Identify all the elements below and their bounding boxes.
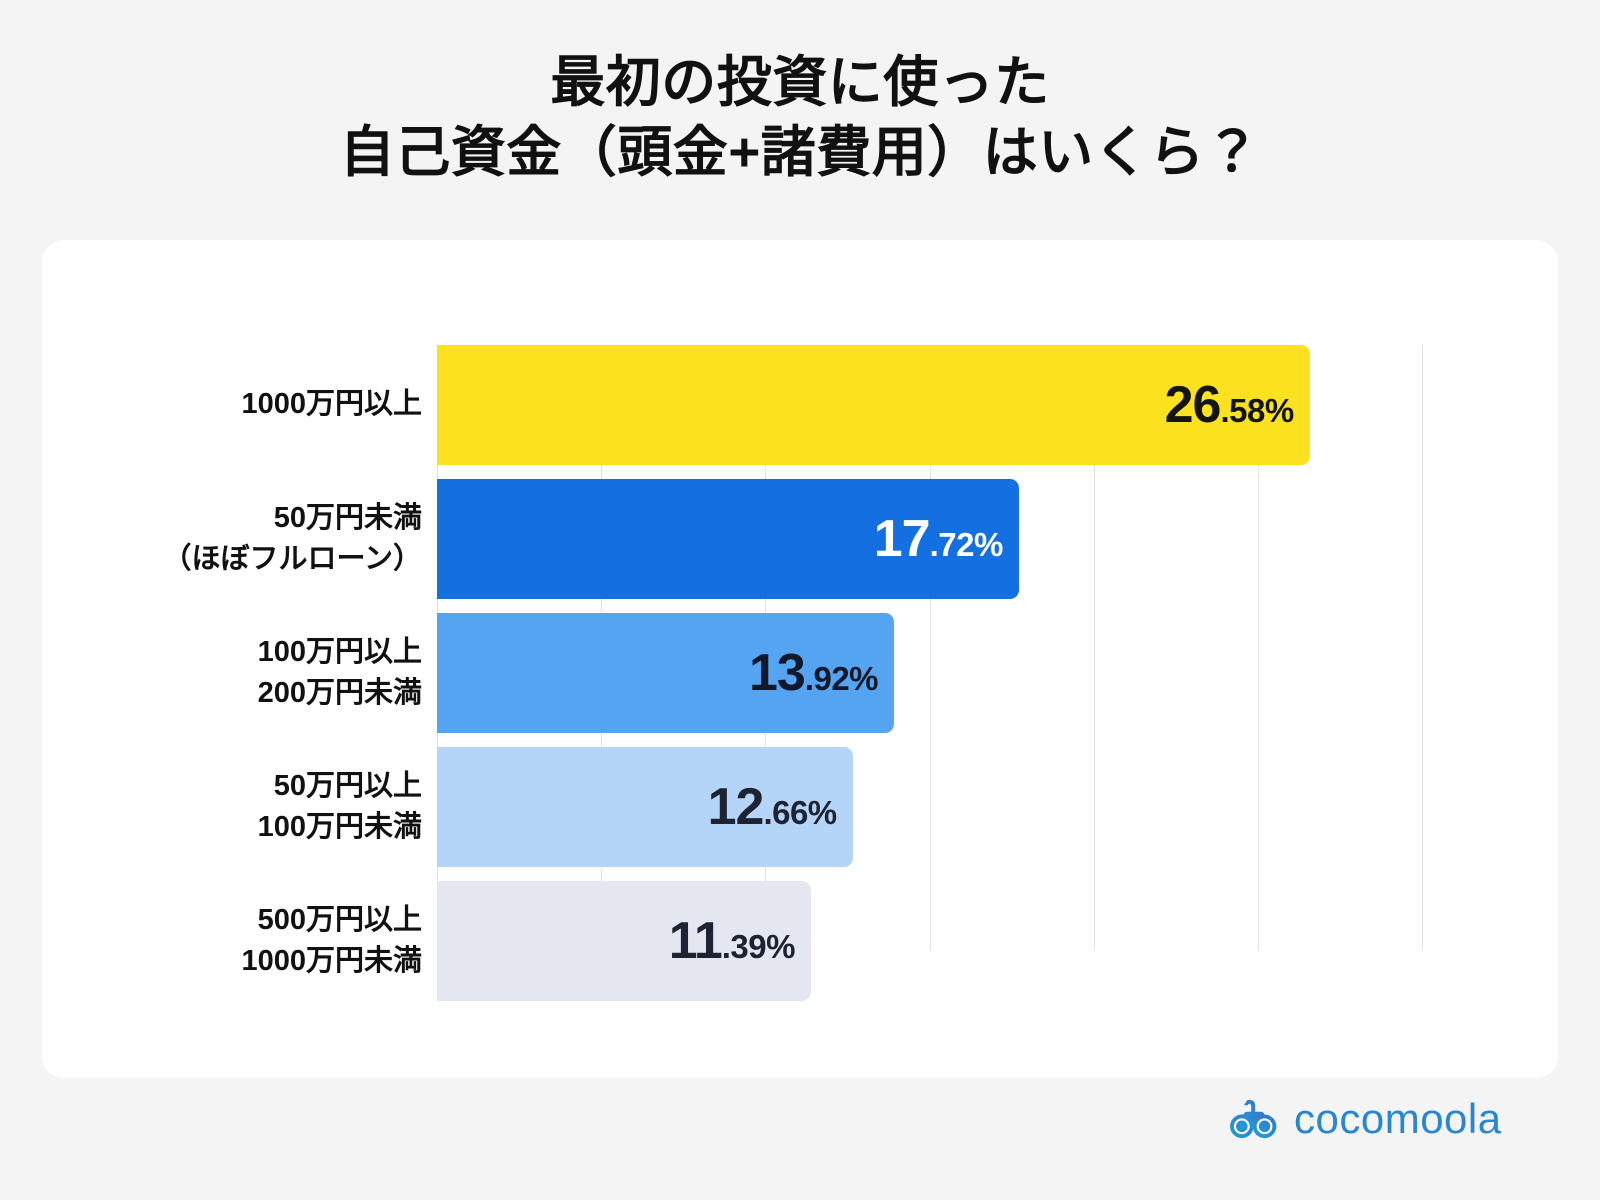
category-label-5: 500万円以上1000万円未満: [102, 881, 422, 1001]
bar-5[interactable]: 11.39%: [437, 881, 811, 1001]
page-title: 最初の投資に使った 自己資金（頭金+諸費用）はいくら？: [0, 48, 1600, 188]
bar-value-label: 12.66%: [708, 781, 837, 833]
category-label-line: 1000万円未満: [241, 941, 422, 982]
bar-value-decimal: .72%: [930, 528, 1003, 561]
category-label-2: 50万円未満（ほぼフルローン）: [102, 479, 422, 599]
category-label-line: 1000万円以上: [241, 384, 422, 425]
chart-card: 1000万円以上50万円未満（ほぼフルローン）100万円以上200万円未満50万…: [42, 240, 1558, 1078]
bar-value-label: 11.39%: [669, 915, 795, 967]
bar-value-integer: 26: [1165, 379, 1221, 431]
bar-value-integer: 13: [749, 647, 805, 699]
category-label-line: 50万円未満: [274, 498, 422, 539]
category-label-4: 50万円以上100万円未満: [102, 747, 422, 867]
brand-name: cocomoola: [1294, 1098, 1502, 1140]
bar-value-label: 17.72%: [874, 513, 1003, 565]
bar-2[interactable]: 17.72%: [437, 479, 1019, 599]
bar-value-integer: 12: [708, 781, 764, 833]
bar-value-integer: 11: [669, 915, 722, 967]
bar-row: 11.39%: [437, 881, 1422, 1001]
category-label-line: （ほぼフルローン）: [162, 539, 422, 580]
bar-value-decimal: .58%: [1220, 394, 1293, 427]
bar-value-label: 13.92%: [749, 647, 878, 699]
bar-1[interactable]: 26.58%: [437, 345, 1310, 465]
bar-value-decimal: .66%: [763, 796, 836, 829]
binoculars-icon: [1228, 1099, 1280, 1139]
category-label-line: 500万円以上: [258, 900, 422, 941]
category-label-line: 100万円以上: [258, 632, 422, 673]
bar-3[interactable]: 13.92%: [437, 613, 894, 733]
chart-plot-area: 26.58%17.72%13.92%12.66%11.39%: [437, 345, 1422, 950]
bar-4[interactable]: 12.66%: [437, 747, 853, 867]
category-label-line: 200万円未満: [258, 673, 422, 714]
bar-value-decimal: .39%: [722, 930, 795, 963]
bar-value-label: 26.58%: [1165, 379, 1294, 431]
category-axis-labels: 1000万円以上50万円未満（ほぼフルローン）100万円以上200万円未満50万…: [102, 345, 422, 950]
category-label-3: 100万円以上200万円未満: [102, 613, 422, 733]
category-label-line: 50万円以上: [274, 766, 422, 807]
category-label-line: 100万円未満: [258, 807, 422, 848]
page-title-line-2: 自己資金（頭金+諸費用）はいくら？: [0, 118, 1600, 188]
bar-row: 12.66%: [437, 747, 1422, 867]
brand-logo[interactable]: cocomoola: [1228, 1098, 1502, 1140]
bar-row: 13.92%: [437, 613, 1422, 733]
category-label-1: 1000万円以上: [102, 345, 422, 465]
bar-value-decimal: .92%: [805, 662, 878, 695]
gridline-30: [1422, 345, 1423, 950]
bar-row: 26.58%: [437, 345, 1422, 465]
bar-value-integer: 17: [874, 513, 930, 565]
bar-row: 17.72%: [437, 479, 1422, 599]
page-title-line-1: 最初の投資に使った: [0, 48, 1600, 118]
chart-bars: 26.58%17.72%13.92%12.66%11.39%: [437, 345, 1422, 950]
